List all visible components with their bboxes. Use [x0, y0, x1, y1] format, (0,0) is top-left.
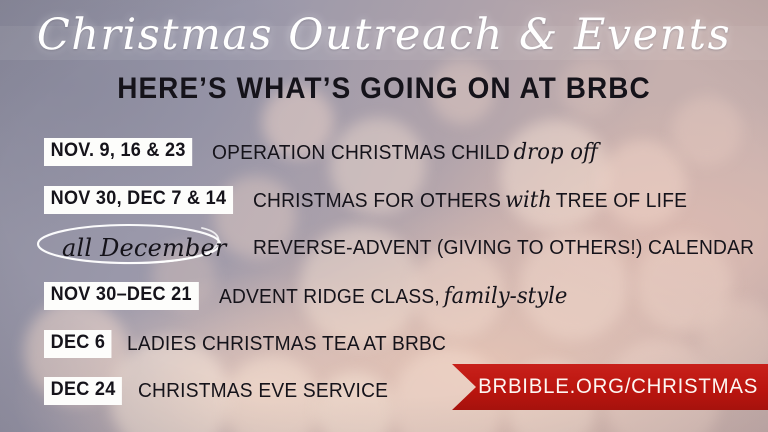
event-title: CHRISTMAS EVE SERVICE	[138, 380, 388, 403]
page-title: Christmas Outreach & Events	[0, 14, 768, 57]
page-subtitle: HERE’S WHAT’S GOING ON AT BRBC	[27, 74, 741, 104]
event-script-word: with	[501, 188, 556, 213]
christmas-events-graphic: Christmas Outreach & Events HERE’S WHAT’…	[0, 0, 768, 432]
date-badge: NOV 30, DEC 7 & 14	[44, 186, 233, 214]
date-badge: NOV 30–DEC 21	[44, 282, 198, 310]
list-item: NOV 30, DEC 7 & 14 CHRISTMAS FOR OTHERSw…	[0, 176, 768, 224]
website-ribbon[interactable]: BRBIBLE.ORG/CHRISTMAS	[452, 364, 768, 410]
event-title: OPERATION CHRISTMAS CHILDdrop off	[212, 140, 602, 165]
list-item: NOV. 9, 16 & 23 OPERATION CHRISTMAS CHIL…	[0, 128, 768, 176]
event-title: LADIES CHRISTMAS TEA AT BRBC	[127, 333, 446, 356]
list-item: all December REVERSE-ADVENT (GIVING TO O…	[0, 224, 768, 272]
event-title: ADVENT RIDGE CLASS,family-style	[219, 284, 571, 309]
date-badge: NOV. 9, 16 & 23	[44, 138, 192, 166]
date-label: all December	[62, 234, 227, 262]
date-badge: DEC 24	[44, 377, 122, 405]
event-title: CHRISTMAS FOR OTHERSwithTREE OF LIFE	[253, 188, 687, 213]
date-badge: DEC 6	[44, 330, 112, 358]
event-script-word: family-style	[440, 284, 571, 309]
event-title: REVERSE-ADVENT (GIVING TO OTHERS!) CALEN…	[253, 237, 754, 260]
date-badge-circled: all December	[44, 230, 243, 267]
website-url: BRBIBLE.ORG/CHRISTMAS	[462, 375, 758, 399]
event-script-word: drop off	[510, 140, 602, 165]
list-item: DEC 6 LADIES CHRISTMAS TEA AT BRBC	[0, 320, 768, 368]
list-item: NOV 30–DEC 21 ADVENT RIDGE CLASS,family-…	[0, 272, 768, 320]
